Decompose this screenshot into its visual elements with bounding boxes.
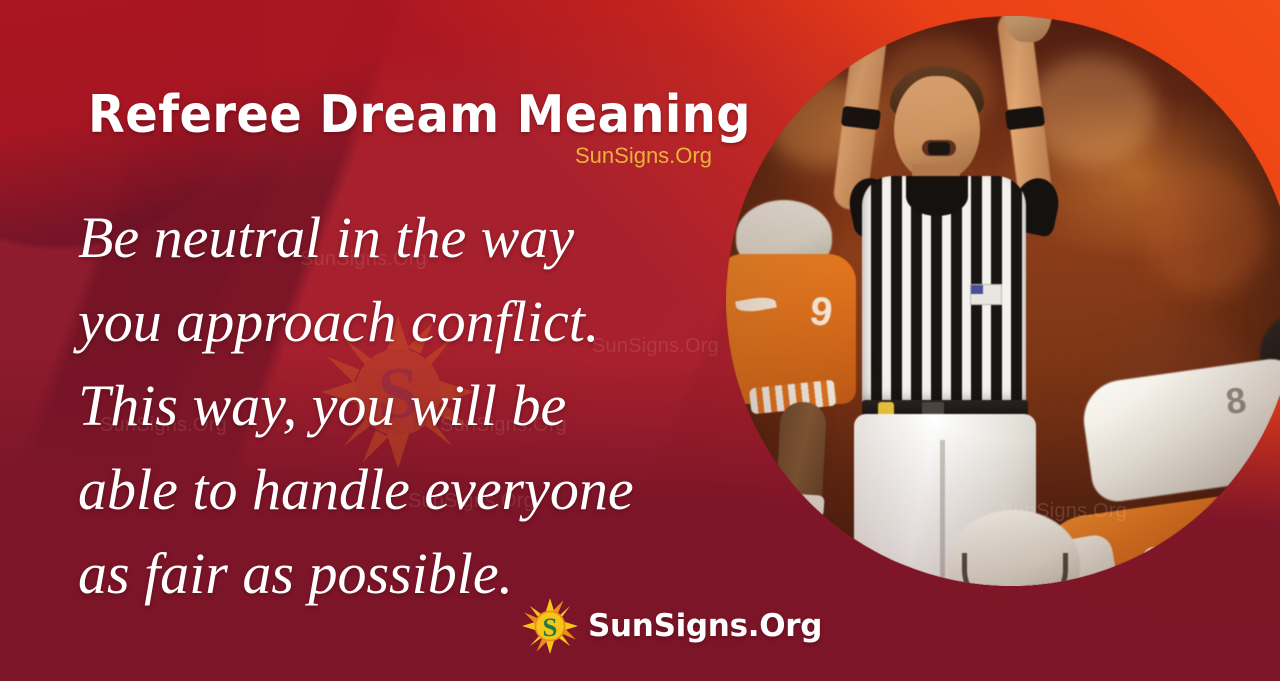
title-brand-watermark: SunSigns.Org bbox=[575, 143, 712, 169]
page-title: Referee Dream Meaning bbox=[88, 85, 751, 145]
referee-collar bbox=[906, 176, 968, 216]
us-flag-patch-icon bbox=[970, 284, 1002, 305]
bottom-player-facemask bbox=[962, 553, 1068, 586]
referee-photo-circle: 9 8 bbox=[726, 16, 1280, 586]
sunsigns-brand-text: SunSigns.Org bbox=[588, 608, 822, 644]
referee-dream-meaning-banner: 9 8 bbox=[0, 0, 1280, 681]
quote-line: you approach conflict. bbox=[78, 280, 728, 364]
bottom-player-number: 98 bbox=[1138, 530, 1204, 586]
quote-text: Be neutral in the way you approach confl… bbox=[78, 196, 728, 616]
bottom-football-player: 98 bbox=[916, 444, 1276, 586]
sun-logo-letter: S bbox=[543, 612, 558, 642]
sunsigns-logo[interactable]: S SunSigns.Org bbox=[522, 598, 822, 654]
whistle-icon bbox=[928, 142, 950, 155]
referee-photo: 9 8 bbox=[726, 16, 1280, 586]
sun-logo-icon: S bbox=[522, 598, 578, 654]
quote-line: This way, you will be bbox=[78, 364, 728, 448]
quote-line: Be neutral in the way bbox=[78, 196, 728, 280]
quote-line: able to handle everyone bbox=[78, 448, 728, 532]
